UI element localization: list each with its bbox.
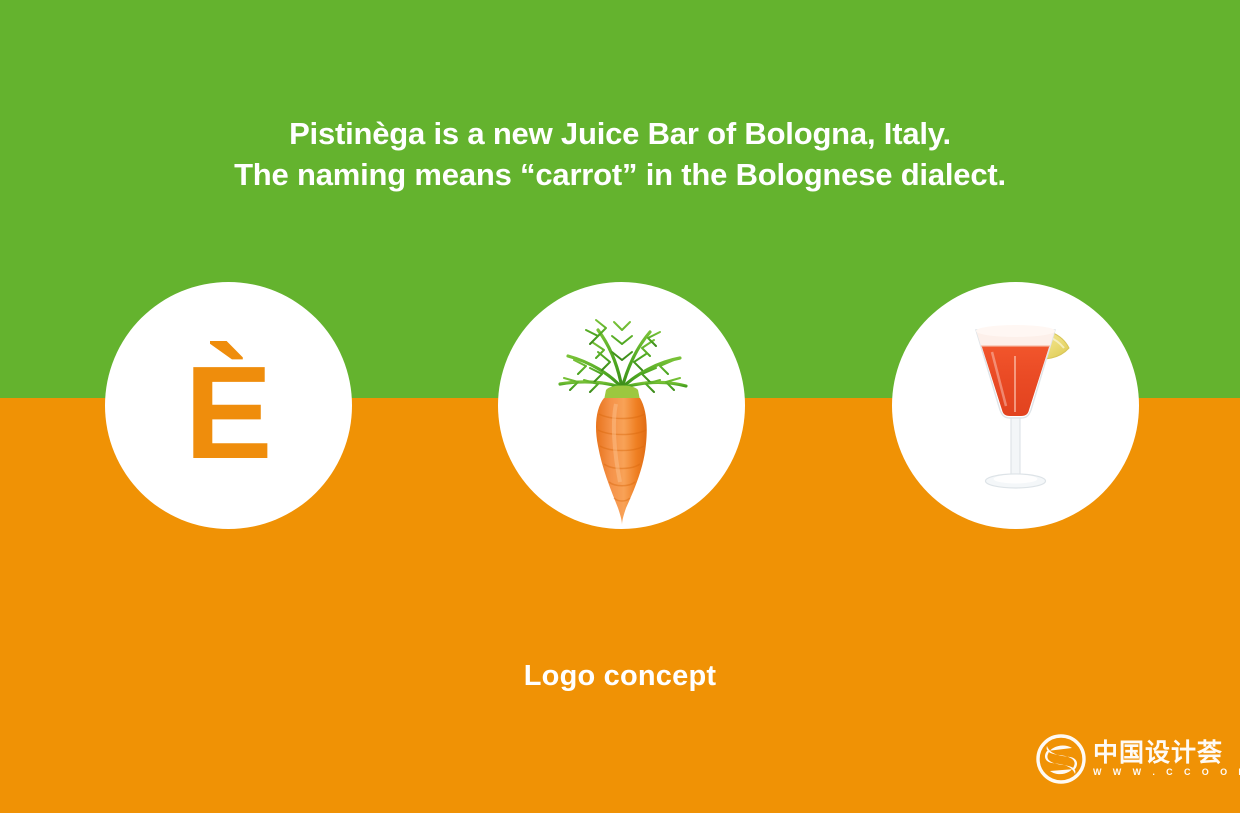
circle-juice-photo <box>892 282 1139 529</box>
carrot-icon <box>498 282 745 529</box>
watermark-url: W W W . C C O O L . C O M <box>1093 766 1240 779</box>
poster-canvas: Pistinèga is a new Juice Bar of Bologna,… <box>0 0 1240 813</box>
headline: Pistinèga is a new Juice Bar of Bologna,… <box>0 113 1240 195</box>
headline-line-1: Pistinèga is a new Juice Bar of Bologna,… <box>0 113 1240 154</box>
watermark-text: 中国设计荟 W W W . C C O O L . C O M <box>1093 740 1240 779</box>
ccool-swirl-logo-icon <box>1036 734 1086 784</box>
watermark-chinese: 中国设计荟 <box>1093 740 1240 766</box>
juice-glass-icon <box>892 282 1139 529</box>
logo-letter-e-grave: È <box>105 282 352 529</box>
circle-logo-mark: È <box>105 282 352 529</box>
circle-carrot-photo <box>498 282 745 529</box>
watermark: 中国设计荟 W W W . C C O O L . C O M <box>1036 731 1222 787</box>
caption-logo-concept: Logo concept <box>0 660 1240 693</box>
headline-line-2: The naming means “carrot” in the Bologne… <box>0 154 1240 195</box>
